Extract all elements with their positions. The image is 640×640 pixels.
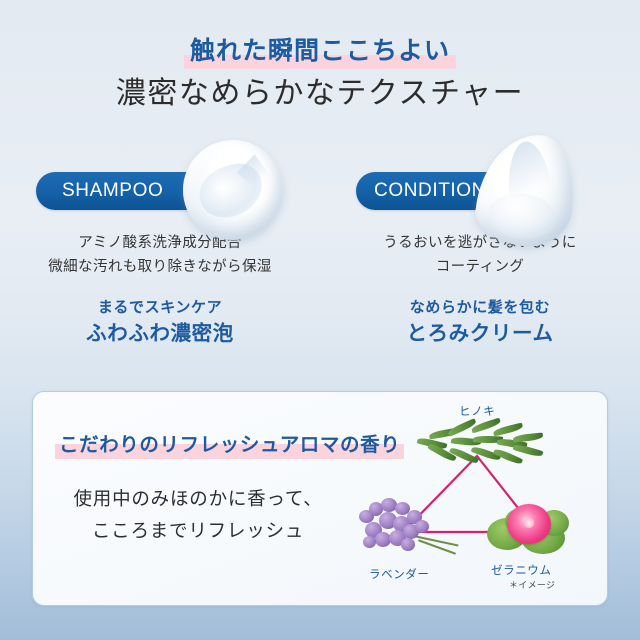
aroma-body-line1: 使用中のみほのかに香って、 — [33, 483, 363, 515]
shampoo-desc-top-line1: アミノ酸系洗浄成分配合 — [0, 232, 320, 255]
conditioner-desc-bottom-line2: とろみクリーム — [320, 320, 640, 348]
conditioner-desc-bottom-line1: なめらかに髪を包む — [320, 297, 640, 320]
shampoo-description: アミノ酸系洗浄成分配合 微細な汚れも取り除きながら保湿 まるでスキンケア ふわふ… — [0, 232, 320, 348]
conditioner-desc-top: うるおいを逃がさないように コーティング — [320, 232, 640, 279]
plant-label-hinoki: ヒノキ — [459, 403, 495, 419]
conditioner-desc-top-line1: うるおいを逃がさないように — [320, 232, 640, 255]
foam-blob-icon — [183, 140, 283, 240]
shampoo-desc-bottom: まるでスキンケア ふわふわ濃密泡 — [0, 297, 320, 348]
shampoo-desc-bottom-line2: ふわふわ濃密泡 — [0, 320, 320, 348]
product-card-conditioner: CONDITIONER うるおいを逃がさないように コーティング なめらかに髪を… — [320, 134, 640, 348]
headline-line1-row: 触れた瞬間ここちよい — [0, 36, 640, 69]
shampoo-desc-top-line2: 微細な汚れも取り除きながら保湿 — [0, 256, 320, 279]
headline-line2: 濃密なめらかなテクスチャー — [0, 76, 640, 112]
aroma-body-line2: こころまでリフレッシュ — [33, 515, 363, 547]
geranium-flower-icon — [477, 496, 581, 562]
geranium-petal — [507, 504, 551, 544]
conditioner-desc-top-line2: コーティング — [320, 256, 640, 279]
conditioner-desc-bottom: なめらかに髪を包む とろみクリーム — [320, 297, 640, 348]
page-headline: 触れた瞬間ここちよい 濃密なめらかなテクスチャー — [0, 0, 640, 112]
conditioner-description: うるおいを逃がさないように コーティング なめらかに髪を包む とろみクリーム — [320, 232, 640, 348]
plant-label-lavender: ラベンダー — [369, 566, 430, 582]
headline-line1: 触れた瞬間ここちよい — [184, 36, 456, 69]
lavender-flower-icon — [357, 496, 461, 562]
product-card-shampoo: SHAMPOO アミノ酸系洗浄成分配合 微細な汚れも取り除きながら保湿 まるでス… — [0, 134, 320, 348]
aroma-plant-diagram: ヒノキ ラベンダー ゼラニ — [351, 392, 601, 606]
shampoo-visual-row: SHAMPOO — [0, 134, 320, 230]
conditioner-visual-row: CONDITIONER — [320, 134, 640, 230]
shampoo-desc-top: アミノ酸系洗浄成分配合 微細な汚れも取り除きながら保湿 — [0, 232, 320, 279]
product-columns: SHAMPOO アミノ酸系洗浄成分配合 微細な汚れも取り除きながら保湿 まるでス… — [0, 134, 640, 348]
plant-label-geranium: ゼラニウム — [491, 562, 552, 578]
image-disclaimer-note: ＊イメージ — [509, 578, 555, 591]
shampoo-desc-bottom-line1: まるでスキンケア — [0, 297, 320, 320]
aroma-body: 使用中のみほのかに香って、 こころまでリフレッシュ — [33, 483, 363, 547]
shampoo-badge: SHAMPOO — [36, 172, 206, 210]
cypress-sprig-icon — [413, 420, 545, 468]
aroma-card: こだわりのリフレッシュアロマの香り 使用中のみほのかに香って、 こころまでリフレ… — [32, 391, 608, 606]
